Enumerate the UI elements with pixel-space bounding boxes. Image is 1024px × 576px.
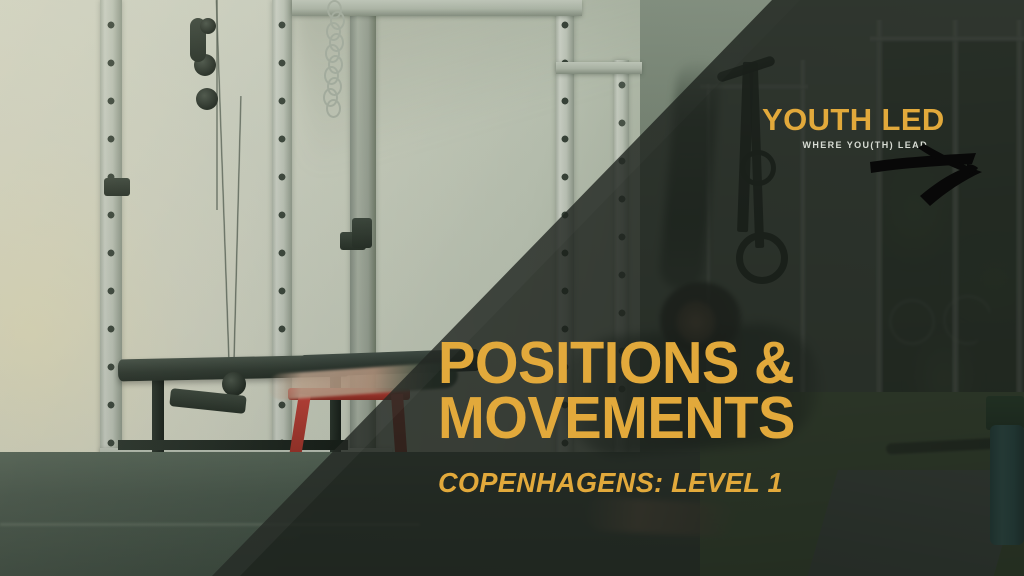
title-line-1: POSITIONS & — [438, 336, 970, 391]
hanging-chain — [322, 0, 346, 118]
floor-seam — [0, 523, 420, 526]
brand-name: YOUTH LED — [762, 104, 1012, 135]
pulley-wheel — [196, 88, 218, 110]
video-thumbnail: YOUTH LED WHERE YOU(TH) LEAD POSITIONS &… — [0, 0, 1024, 576]
rack-jhook — [352, 218, 372, 248]
title-block: POSITIONS & MOVEMENTS COPENHAGENS: LEVEL… — [438, 336, 998, 499]
rack-crossbar — [556, 62, 642, 74]
rack-upright — [100, 0, 122, 500]
hand-drawn-right-arrow — [868, 142, 988, 224]
title-line-2: MOVEMENTS — [438, 391, 970, 446]
gymnastic-ring — [736, 232, 788, 284]
gymnastic-ring — [740, 150, 776, 186]
subtitle: COPENHAGENS: LEVEL 1 — [438, 467, 981, 499]
window-transom — [870, 36, 1024, 42]
rack-jhook — [104, 178, 130, 196]
pulley-wheel — [200, 18, 216, 34]
pulley-wheel — [222, 372, 246, 396]
